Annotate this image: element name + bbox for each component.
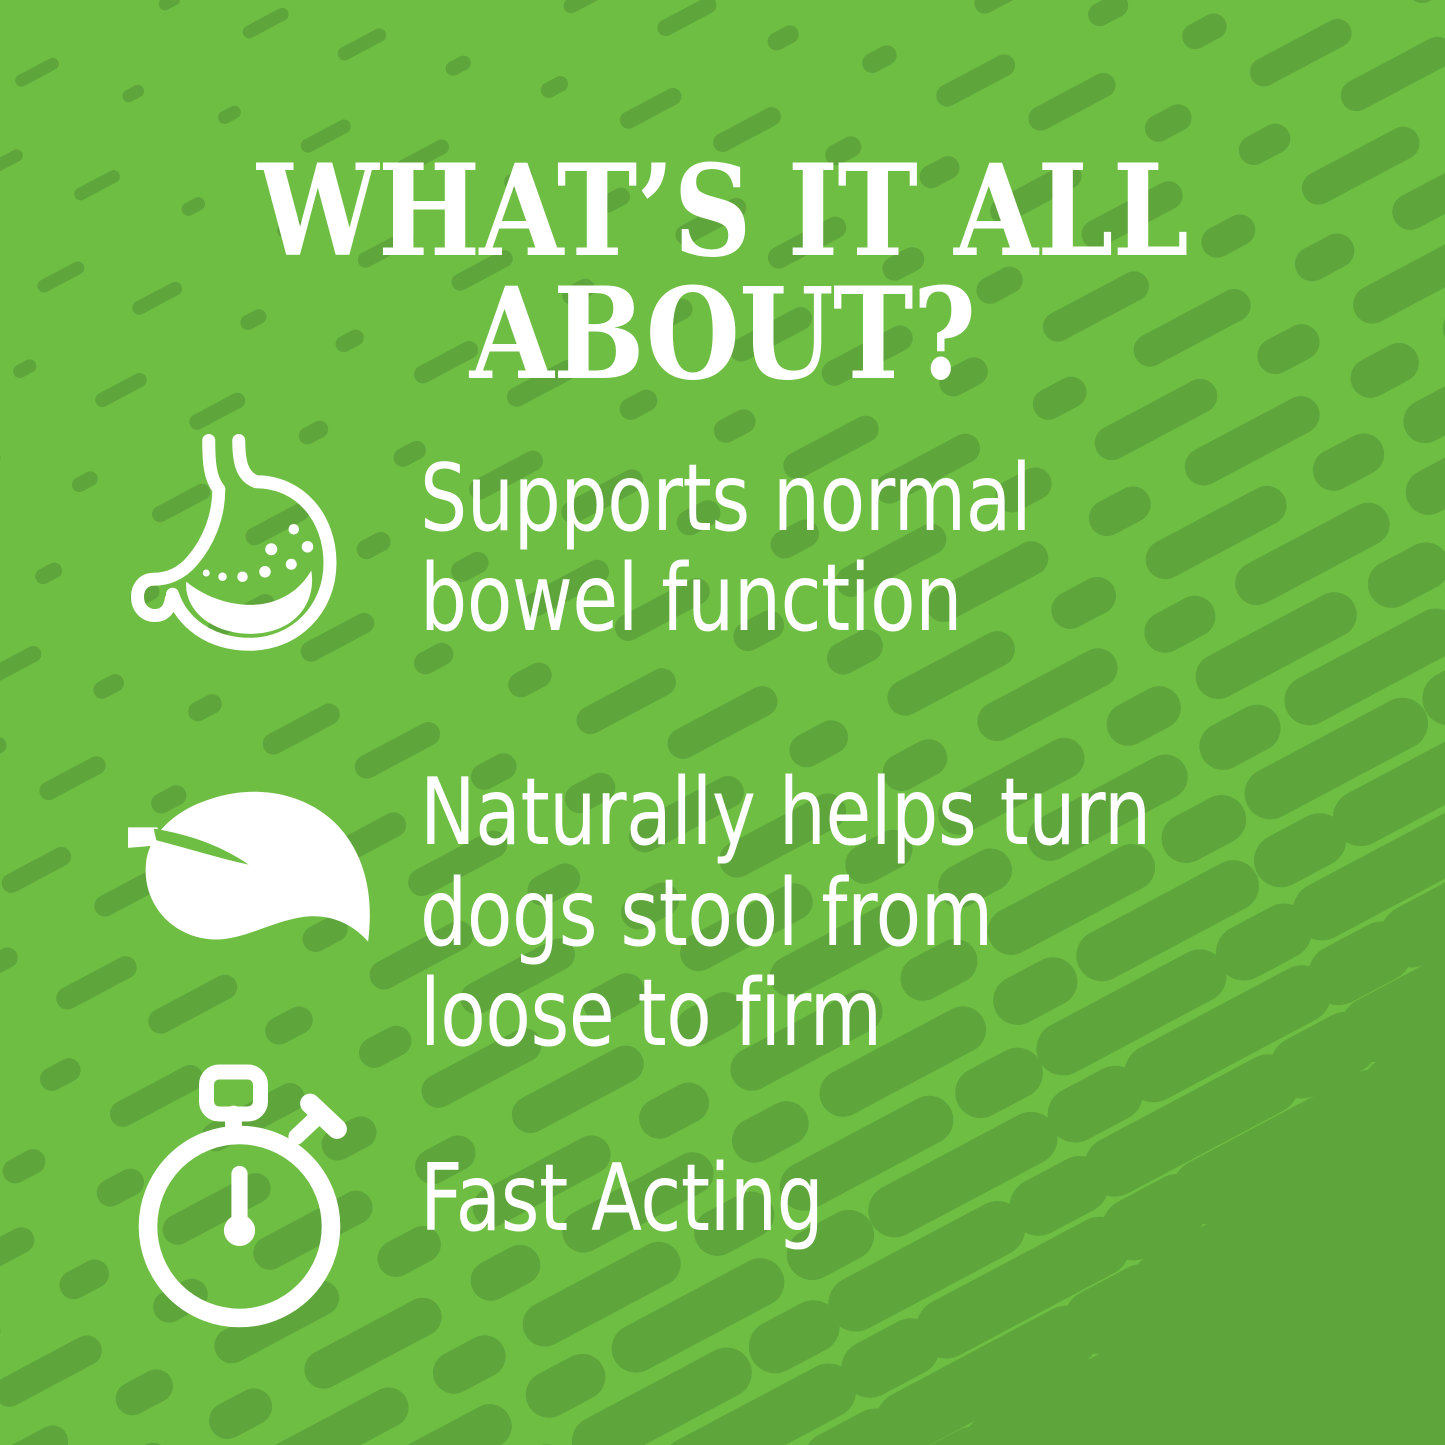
stopwatch-icon <box>100 1063 400 1333</box>
page-title-line-2: ABOUT? <box>230 273 1215 396</box>
leaf-icon <box>100 785 400 975</box>
benefit-text-stomach: Supports normal bowel function <box>420 448 1031 649</box>
benefit-row-stomach: Supports normal bowel function <box>0 408 1445 688</box>
benefit-text-leaf: Naturally helps turn dogs stool from loo… <box>420 762 1151 1063</box>
stomach-icon <box>100 423 400 673</box>
benefit-row-leaf: Naturally helps turn dogs stool from loo… <box>0 763 1445 1063</box>
promo-poster: WHAT’S IT ALL ABOUT? <box>0 0 1445 1445</box>
page-title-line-1: WHAT’S IT ALL <box>230 150 1215 273</box>
page-title: WHAT’S IT ALL ABOUT? <box>101 150 1344 397</box>
benefit-text-stopwatch: Fast Acting <box>420 1148 823 1248</box>
benefit-row-stopwatch: Fast Acting <box>0 1048 1445 1348</box>
